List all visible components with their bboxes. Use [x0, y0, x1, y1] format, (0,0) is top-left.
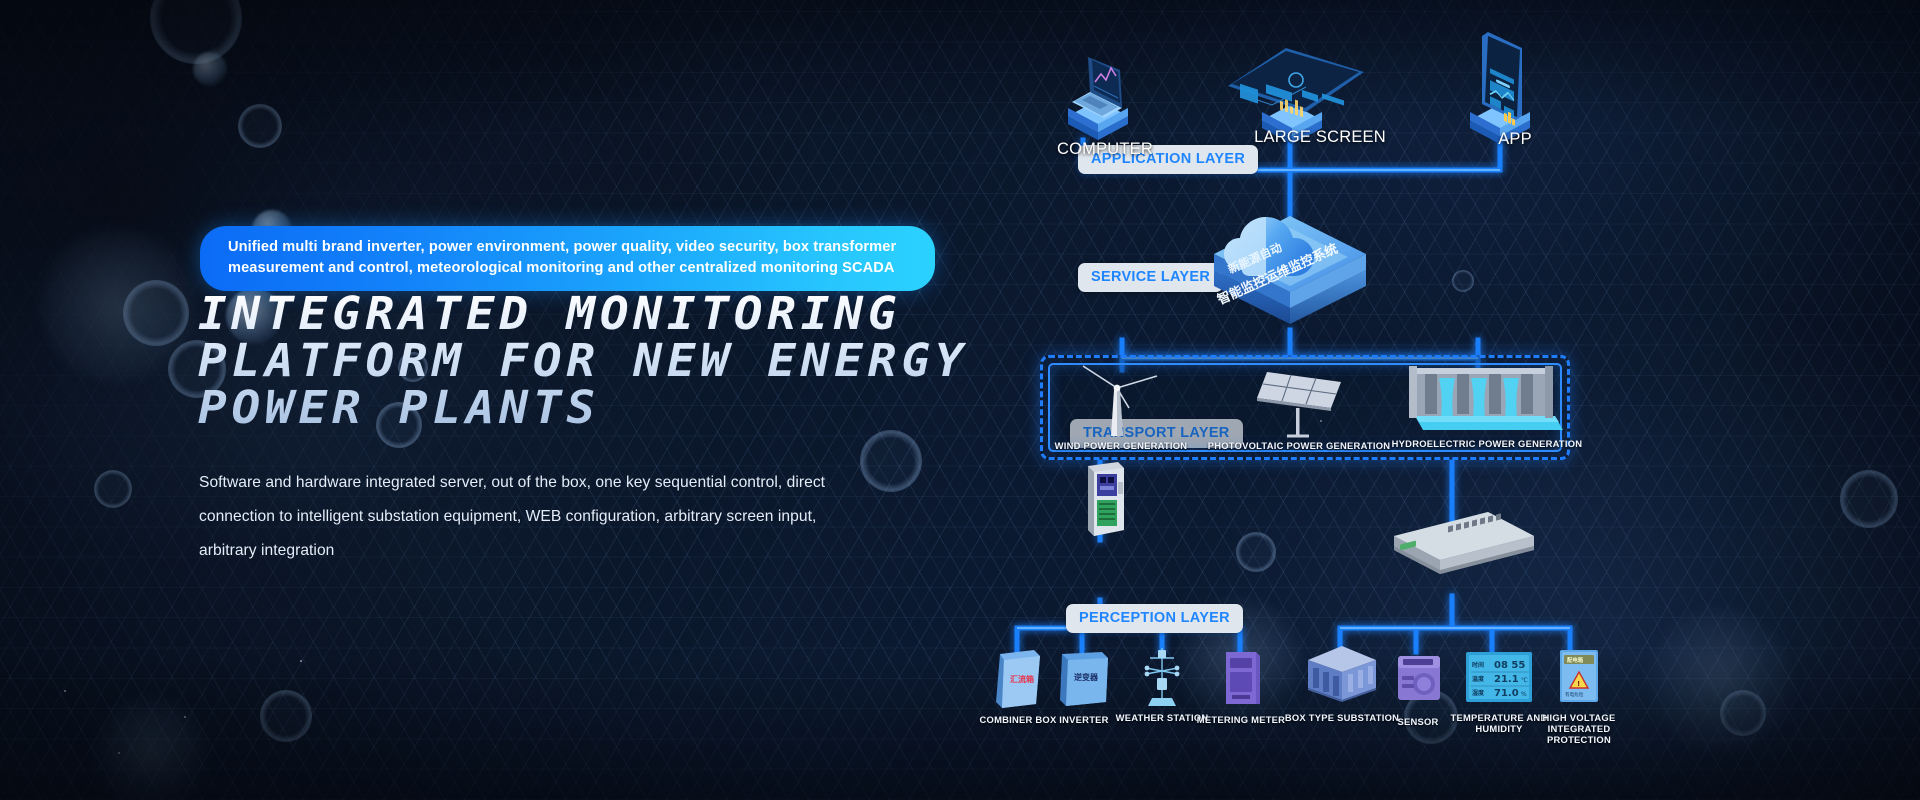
perception-node-metering-meter[interactable]: METERING METER: [1204, 648, 1278, 728]
node-label: COMPUTER: [1057, 140, 1153, 159]
node-label-line-1: HIGH VOLTAGE: [1543, 712, 1616, 723]
service-node-cloud[interactable]: 新能源自动 智能监控运维监控系统: [1180, 208, 1400, 338]
node-label: LARGE SCREEN: [1254, 128, 1386, 147]
page-title: INTEGRATED MONITORING PLATFORM FOR NEW E…: [198, 290, 1152, 431]
transport-node-wind[interactable]: WIND POWER GENERATION: [1051, 364, 1196, 459]
architecture-diagram: APPLICATION LAYER SERVICE LAYER TRANSPOR…: [1040, 0, 1920, 800]
layer-label: PERCEPTION LAYER: [1079, 610, 1230, 626]
svg-text:℃: ℃: [1521, 677, 1528, 684]
application-node-large-screen[interactable]: LARGE SCREEN: [1210, 28, 1380, 170]
node-label: COMBINER BOX: [980, 714, 1057, 725]
hv-protection-icon: 配电箱 ! 有电危险: [1536, 646, 1622, 708]
mid-node-gateway[interactable]: [1068, 460, 1148, 542]
node-label: INVERTER: [1059, 714, 1108, 725]
cloud-server-icon: 新能源自动 智能监控运维监控系统: [1180, 208, 1400, 338]
node-label: WEATHER STATION: [1116, 712, 1209, 723]
weather-station-icon: [1122, 644, 1202, 710]
node-label-line-2: INTEGRATED PROTECTION: [1547, 723, 1611, 745]
svg-text:08 55: 08 55: [1494, 660, 1525, 671]
hero-description: Software and hardware integrated server,…: [199, 466, 859, 568]
hydro-dam-icon: [1395, 360, 1575, 438]
svg-text:71.0: 71.0: [1494, 688, 1519, 699]
tagline-text: Unified multi brand inverter, power envi…: [228, 239, 896, 276]
node-label: SENSOR: [1397, 716, 1438, 727]
electric-meter-icon: [1204, 648, 1278, 710]
node-label: METERING METER: [1197, 714, 1285, 725]
inverter-icon: 逆变器: [1046, 648, 1122, 710]
svg-text:21.1: 21.1: [1494, 674, 1519, 685]
node-label: HIGH VOLTAGE INTEGRATED PROTECTION: [1519, 712, 1639, 745]
thermo-hygrometer-icon: 时间 08 55 温度 21.1 ℃ 湿度 71.0 %: [1452, 648, 1548, 708]
sensor-icon: [1382, 650, 1454, 708]
node-label: APP: [1498, 130, 1532, 149]
perception-node-box-type-substation[interactable]: BOX TYPE SUBSTATION: [1296, 642, 1388, 728]
layer-pill-perception[interactable]: PERCEPTION LAYER: [1066, 604, 1243, 633]
smartphone-icon: [1438, 30, 1568, 146]
application-node-computer[interactable]: COMPUTER: [1010, 40, 1160, 170]
industrial-gateway-icon: [1068, 460, 1148, 542]
wind-turbine-icon: [1051, 364, 1196, 438]
headline-line-1: INTEGRATED MONITORING: [198, 290, 1152, 337]
node-label: WIND POWER GENERATION: [1055, 440, 1188, 451]
svg-text:配电箱: 配电箱: [1567, 656, 1584, 664]
headline-line-2: PLATFORM FOR NEW ENERGY: [198, 337, 1152, 384]
svg-text:汇流箱: 汇流箱: [1010, 674, 1034, 684]
node-label: HYDROELECTRIC POWER GENERATION: [1392, 438, 1583, 449]
solar-panel-icon: [1201, 364, 1401, 438]
node-label-line-2: HUMIDITY: [1475, 723, 1522, 734]
perception-node-weather-station[interactable]: WEATHER STATION: [1122, 644, 1202, 728]
node-label: PHOTOVOLTAIC POWER GENERATION: [1208, 440, 1391, 451]
headline-line-3: POWER PLANTS: [198, 384, 1152, 431]
laptop-icon: [1010, 40, 1160, 140]
svg-text:逆变器: 逆变器: [1074, 672, 1099, 682]
tagline-banner: Unified multi brand inverter, power envi…: [200, 226, 935, 291]
application-node-app[interactable]: APP: [1438, 30, 1568, 170]
substation-icon: [1296, 642, 1388, 708]
svg-text:!: !: [1577, 680, 1580, 688]
svg-text:时间: 时间: [1472, 661, 1484, 669]
mid-node-server[interactable]: [1370, 502, 1540, 598]
svg-text:湿度: 湿度: [1472, 689, 1485, 697]
svg-text:%: %: [1521, 691, 1527, 698]
svg-text:有电危险: 有电危险: [1565, 691, 1584, 698]
transport-node-hydroelectric[interactable]: HYDROELECTRIC POWER GENERATION: [1395, 360, 1575, 459]
rack-server-icon: [1370, 502, 1540, 598]
perception-node-inverter[interactable]: 逆变器 INVERTER: [1046, 648, 1122, 728]
transport-layer-container: WIND POWER GENERATION PHOTOVOLTAIC POWER…: [1040, 355, 1570, 460]
hero-text-panel: Unified multi brand inverter, power envi…: [0, 0, 960, 800]
svg-text:温度: 温度: [1472, 675, 1485, 683]
transport-node-photovoltaic[interactable]: PHOTOVOLTAIC POWER GENERATION: [1201, 364, 1401, 459]
perception-node-high-voltage-protection[interactable]: 配电箱 ! 有电危险 HIGH VOLTAGE INTEGRATED PROTE…: [1536, 646, 1622, 740]
